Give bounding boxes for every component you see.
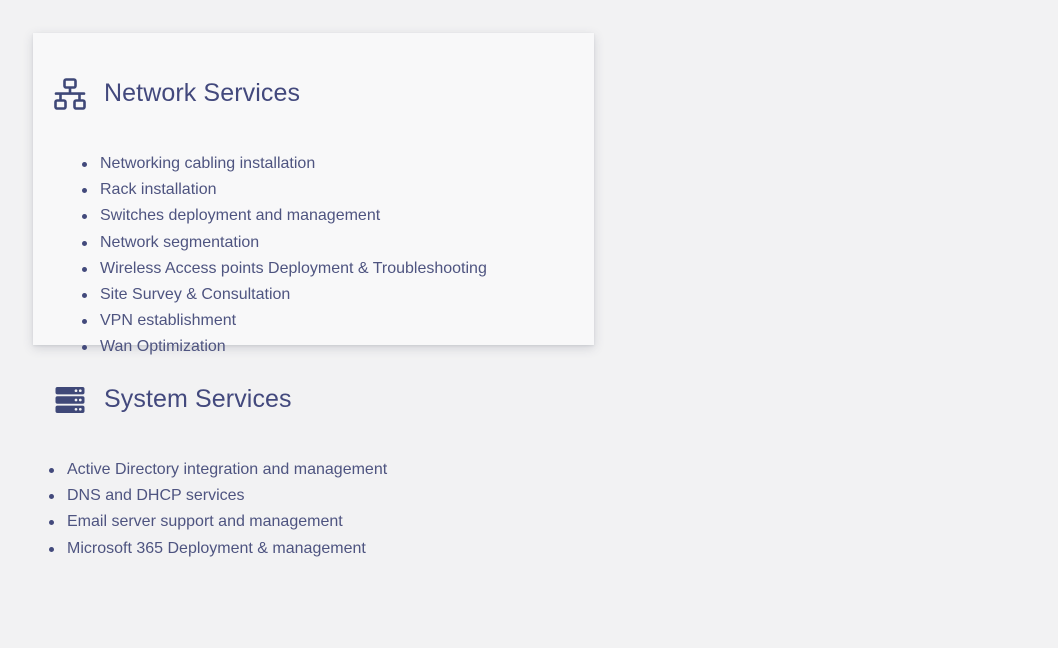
panel-network-services: Network Services Networking cabling inst… bbox=[33, 33, 594, 345]
list-item: Microsoft 365 Deployment & management bbox=[48, 536, 594, 562]
panel-contract-and-support: Contract & Support Service Level Agreeme… bbox=[594, 345, 1058, 648]
service-list: Firewall deployment and management Endpo… bbox=[594, 128, 1058, 282]
list-item: DNS and DHCP services bbox=[48, 483, 594, 509]
panel-header: Contract & Support bbox=[594, 345, 1058, 434]
list-item: Switches deployment and management bbox=[81, 203, 594, 229]
service-list: Active Directory integration and managem… bbox=[0, 434, 594, 562]
list-item: Email server support and management bbox=[48, 509, 594, 535]
service-list: Networking cabling installation Rack ins… bbox=[33, 128, 594, 361]
network-sitemap-icon bbox=[52, 76, 88, 112]
panel-header: Managed Cyber Security bbox=[594, 0, 1058, 128]
server-rack-icon bbox=[52, 382, 88, 418]
panel-title: Network Services bbox=[104, 80, 300, 108]
panel-title: System Services bbox=[104, 386, 292, 414]
list-item: Rack installation bbox=[81, 177, 594, 203]
list-item: Active Directory integration and managem… bbox=[48, 457, 594, 483]
panel-managed-cyber-security: Managed Cyber Security Firewall deployme… bbox=[594, 0, 1058, 345]
list-item: Wireless Access points Deployment & Trou… bbox=[81, 256, 594, 282]
services-grid: Network Services Networking cabling inst… bbox=[0, 0, 1058, 648]
panel-system-services: System Services Active Directory integra… bbox=[0, 345, 594, 648]
list-item: VPN establishment bbox=[81, 308, 594, 334]
service-list: Service Level Agreement SLA for IT IT Ha… bbox=[594, 434, 1058, 640]
list-item: Network segmentation bbox=[81, 230, 594, 256]
list-item: Site Survey & Consultation bbox=[81, 282, 594, 308]
panel-header: Network Services bbox=[33, 33, 594, 128]
panel-header: System Services bbox=[0, 345, 594, 434]
list-item: Networking cabling installation bbox=[81, 151, 594, 177]
